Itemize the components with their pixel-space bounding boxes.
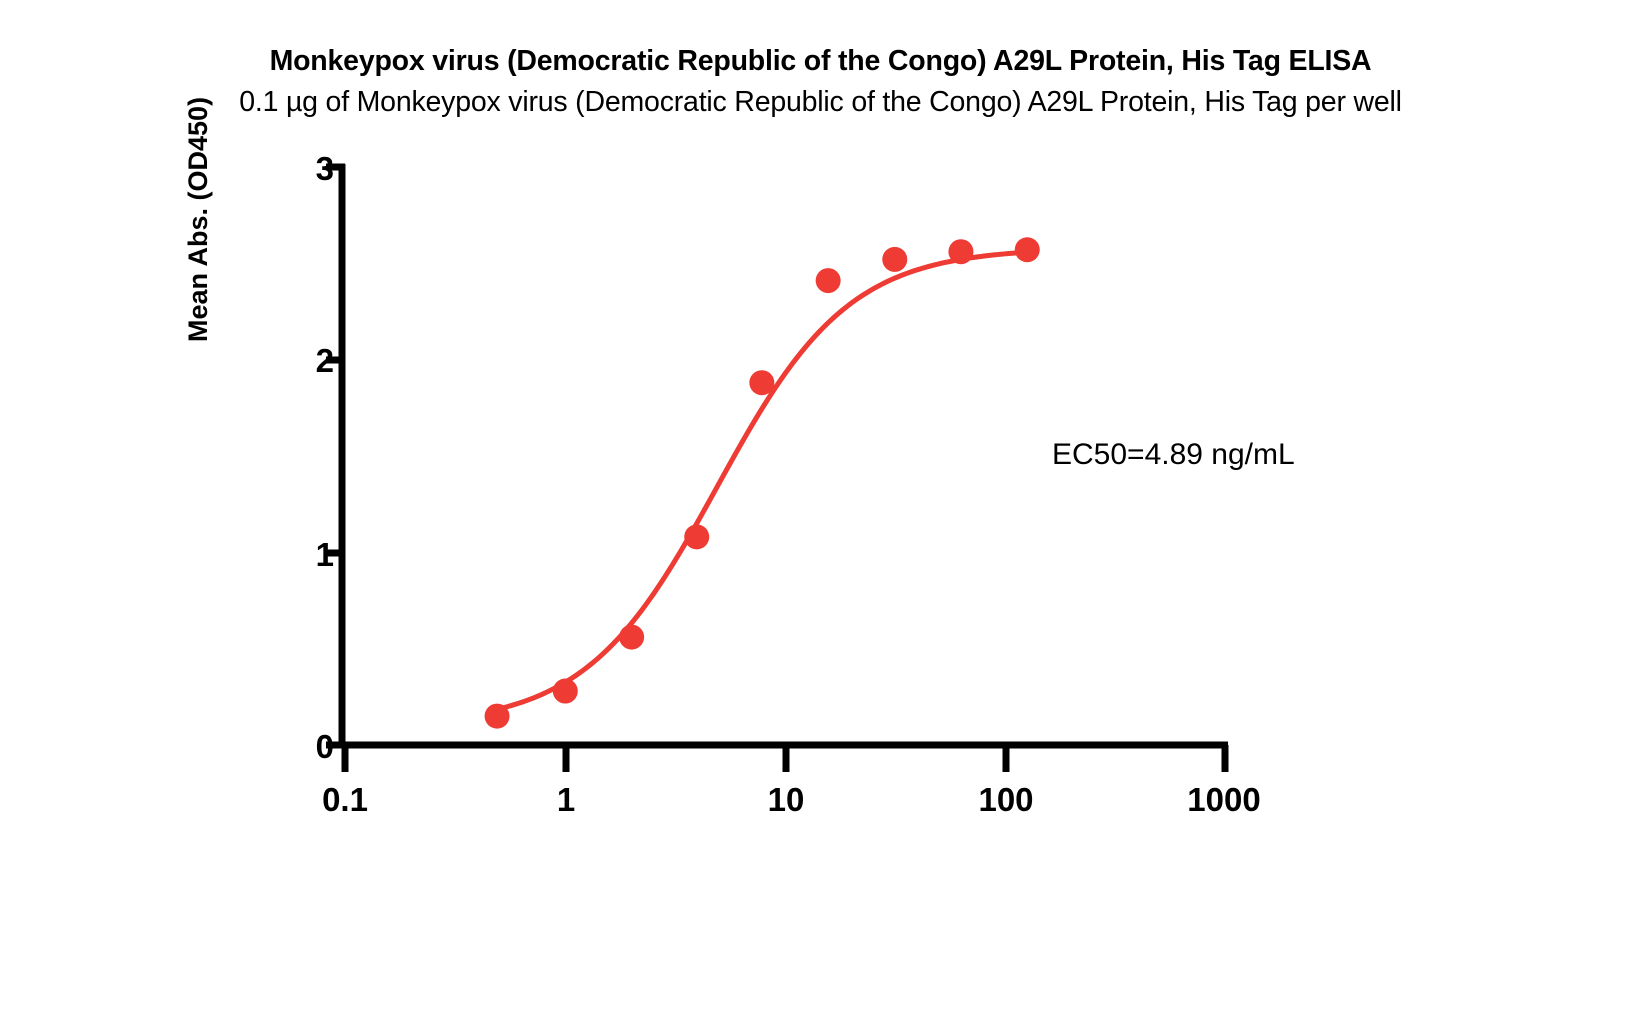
data-point <box>619 625 644 650</box>
data-point <box>749 370 774 395</box>
series-markers <box>485 237 1040 728</box>
elisa-chart-figure: Monkeypox virus (Democratic Republic of … <box>0 0 1641 1023</box>
data-point <box>684 524 709 549</box>
data-point <box>882 247 907 272</box>
data-point <box>553 679 578 704</box>
data-point <box>485 704 510 729</box>
data-point <box>948 239 973 264</box>
data-point <box>816 268 841 293</box>
series-fit-curve <box>497 252 1027 709</box>
data-point <box>1015 237 1040 262</box>
plot-area <box>0 0 1641 1023</box>
